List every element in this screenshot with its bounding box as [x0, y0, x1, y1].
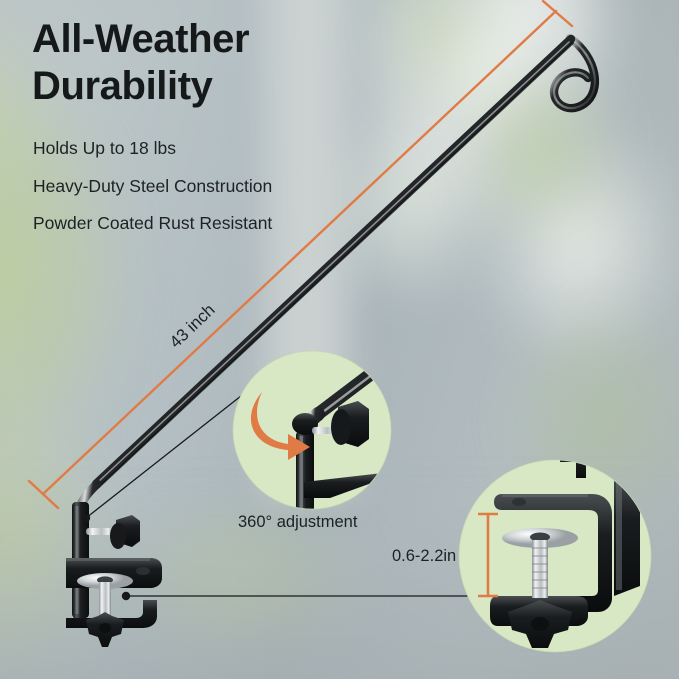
- product-feature-image: All-Weather Durability Holds Up to 18 lb…: [0, 0, 679, 679]
- inset-clamp-caption: 0.6-2.2in: [392, 547, 456, 566]
- leader-dot-clamp: [122, 592, 130, 600]
- inset-pivot-caption: 360° adjustment: [238, 513, 357, 532]
- product-illustration: 43 inch: [0, 0, 679, 679]
- pole-length-label: 43 inch: [166, 300, 219, 352]
- inset-clamp: [459, 452, 651, 652]
- leader-dot-pivot: [82, 514, 90, 522]
- inset-pivot: [233, 351, 400, 524]
- pivot-knob: [86, 515, 140, 549]
